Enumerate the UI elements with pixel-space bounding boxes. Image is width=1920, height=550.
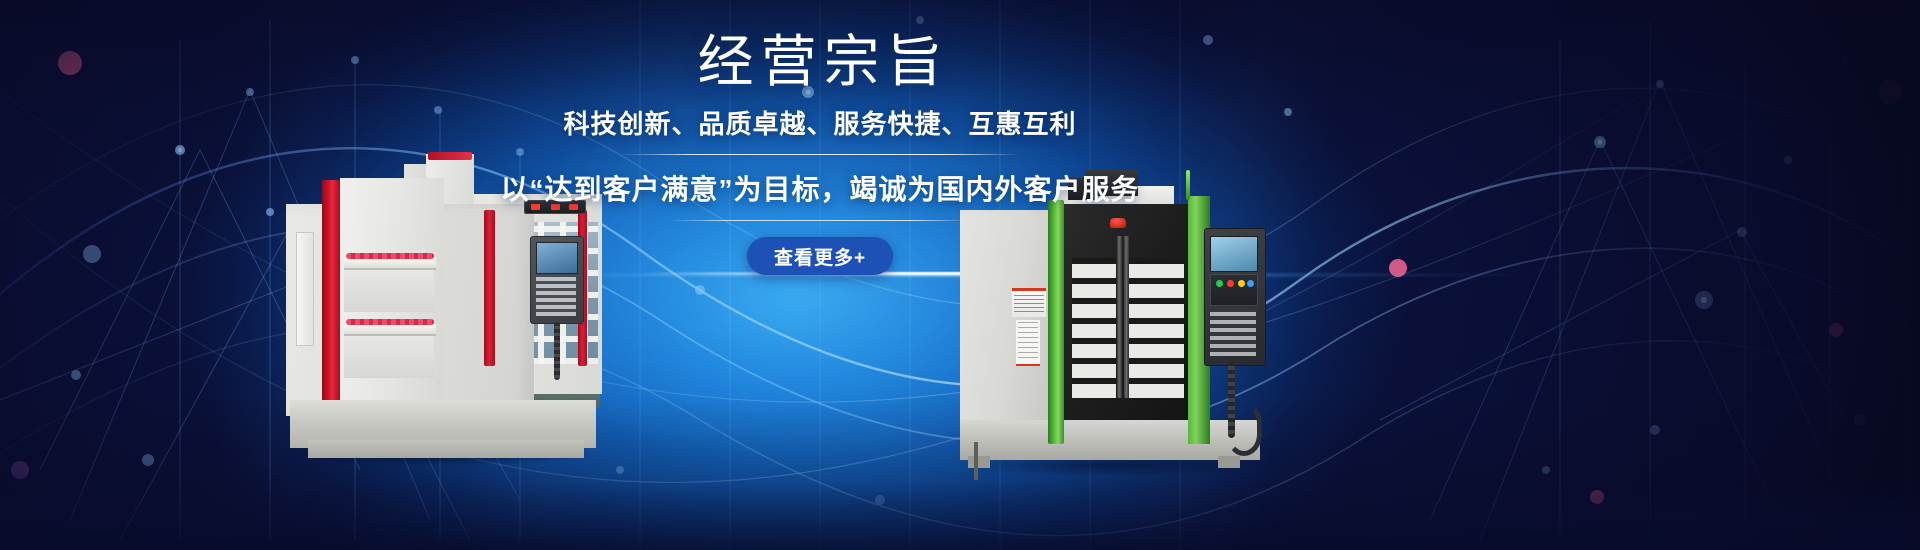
machine-window-grid-left (1072, 258, 1116, 398)
tool-pins-1 (346, 253, 434, 259)
machine-console-buttons (1210, 274, 1258, 306)
cta-wrapper: 查看更多+ (440, 237, 1200, 275)
view-more-button[interactable]: 查看更多+ (747, 237, 893, 275)
machine-console-screen (1210, 236, 1258, 272)
divider-bottom (670, 220, 970, 221)
machine-console-keypad (1210, 308, 1256, 356)
tool-shelf-side-1 (344, 268, 434, 312)
machine-window-grid-right (1128, 258, 1184, 398)
divider-top (620, 154, 1020, 155)
warning-label-2 (1016, 320, 1040, 366)
machine-base (960, 420, 1260, 460)
tool-shelf-side-2 (344, 334, 434, 378)
warning-label-1 (1012, 288, 1046, 317)
machine-control-keypad (536, 276, 576, 316)
machine-base-plinth (308, 440, 584, 458)
machine-foot-right (1218, 456, 1240, 468)
machine-control-cord (554, 322, 560, 380)
machine-red-accent-left (322, 180, 340, 434)
machine-coolant-pipe (974, 442, 978, 480)
machine-console-cord-coil (1226, 402, 1262, 456)
banner-content: 经营宗旨 科技创新、品质卓越、服务快捷、互惠互利 以“达到客户满意”为目标，竭诚… (440, 18, 1200, 275)
banner-subtitle: 科技创新、品质卓越、服务快捷、互惠互利 (440, 104, 1200, 141)
banner-tagline: 以“达到客户满意”为目标，竭诚为国内外客户服务 (440, 168, 1200, 208)
machine-side-door (296, 232, 314, 346)
tool-pins-2 (346, 319, 434, 325)
tool-shelf-1 (344, 258, 436, 270)
hero-banner: 经营宗旨 科技创新、品质卓越、服务快捷、互惠互利 以“达到客户满意”为目标，竭诚… (0, 0, 1920, 550)
tool-shelf-2 (344, 324, 436, 336)
banner-title: 经营宗旨 (440, 32, 1200, 92)
bottom-fade (0, 480, 1920, 550)
machine-foot-left (968, 456, 990, 468)
